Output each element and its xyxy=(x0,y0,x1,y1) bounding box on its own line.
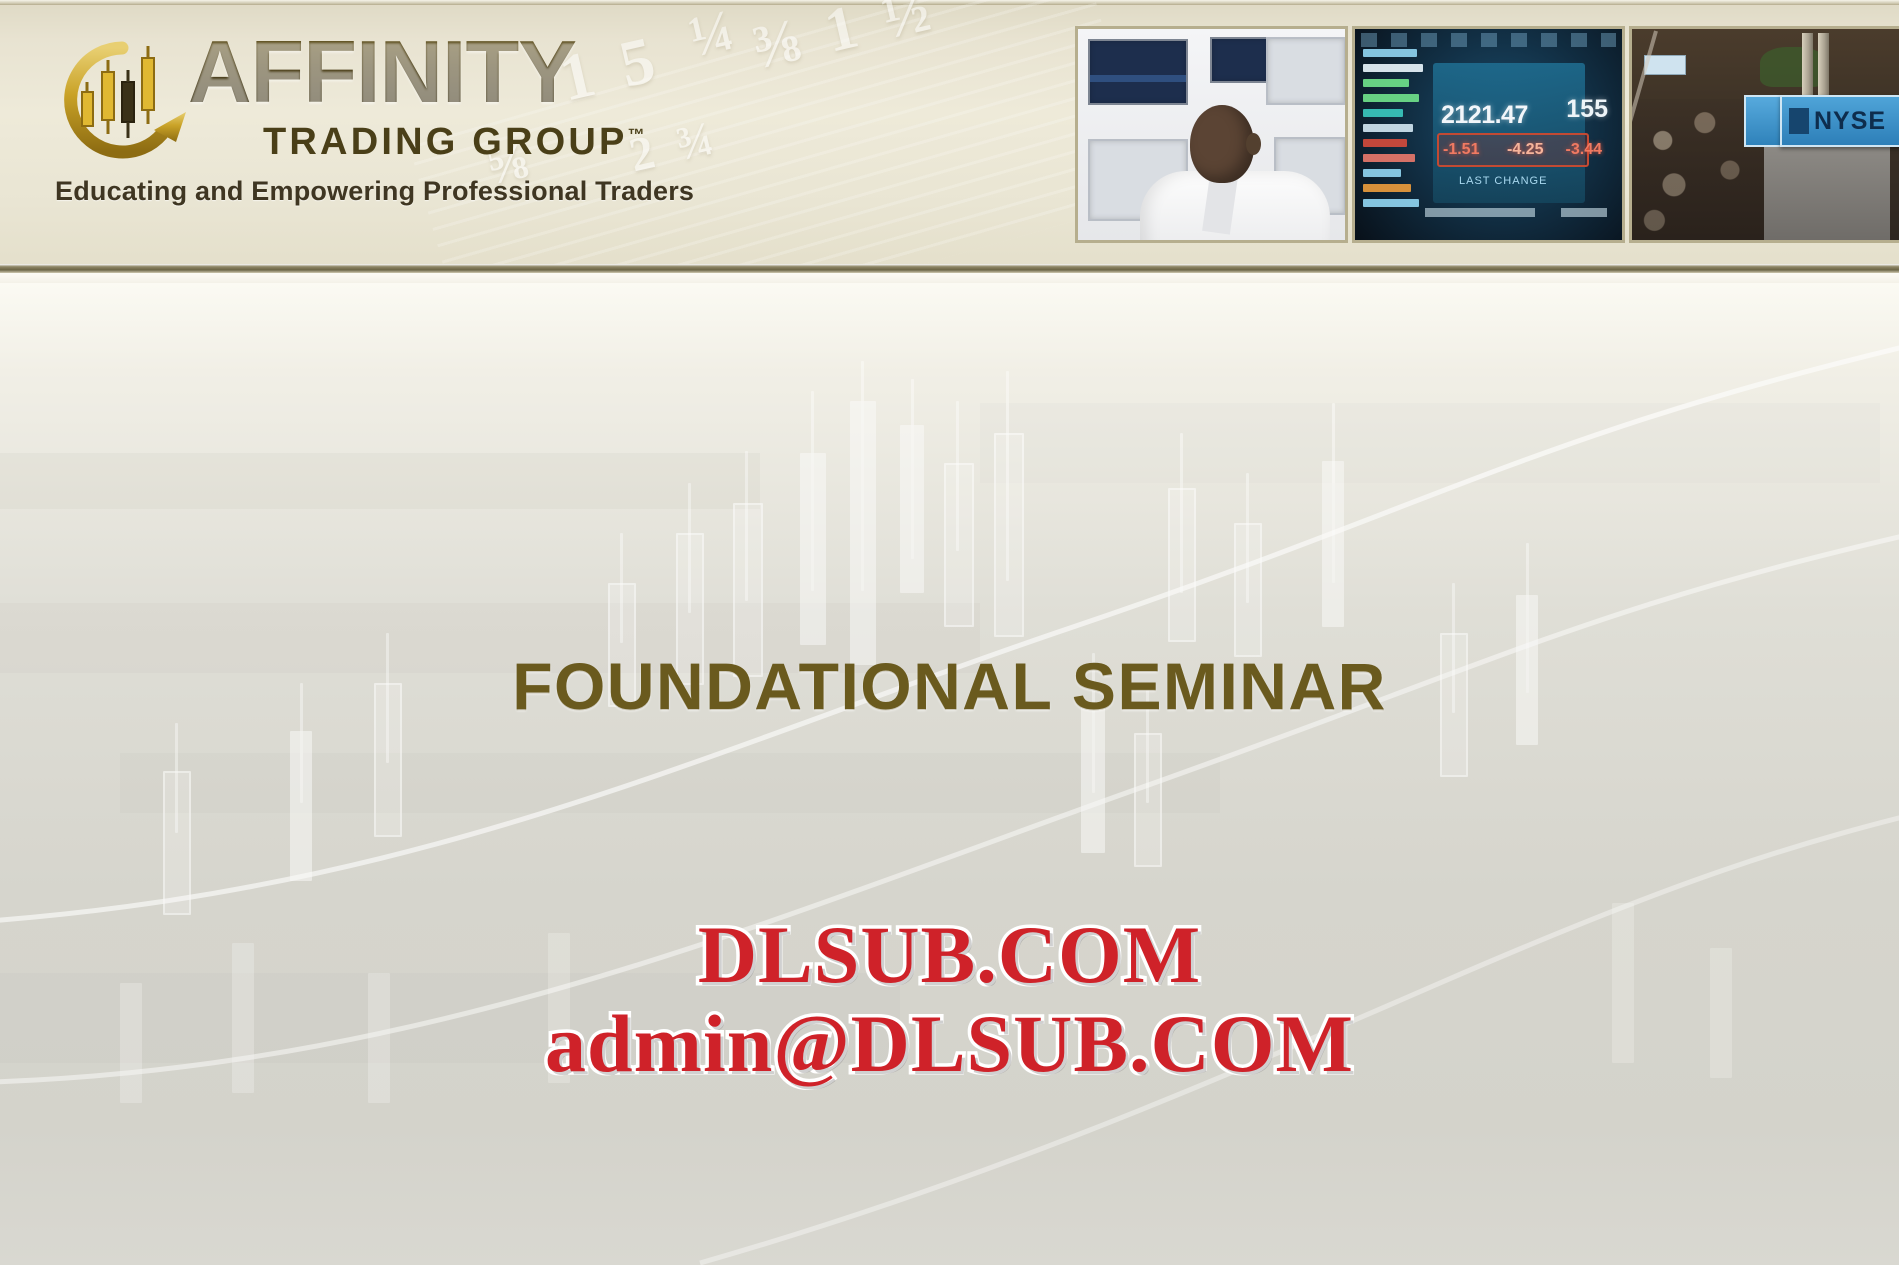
monitor-top-mid xyxy=(1210,37,1270,83)
watermark-line-1: DLSUB.COM xyxy=(0,911,1899,1000)
logo-wordmark: AFFINITY xyxy=(188,28,576,116)
monitor-top-left xyxy=(1088,39,1188,105)
logo-subname: TRADING GROUP™ xyxy=(263,121,645,164)
board-index-value: 2121.47 xyxy=(1441,101,1528,130)
market-data-board-photo: 2121.47 155 -1.51 -4.25 -3.44 LAST CHANG… xyxy=(1352,26,1625,243)
nyse-sign-text: NYSE xyxy=(1814,107,1886,136)
board-change-2: -3.44 xyxy=(1566,141,1602,159)
board-change-0: -1.51 xyxy=(1443,141,1479,159)
nyse-sign: NYSE xyxy=(1780,95,1899,147)
board-bottom-row xyxy=(1365,208,1612,230)
monitor-band xyxy=(1090,75,1186,82)
site-watermark: DLSUB.COM admin@DLSUB.COM xyxy=(0,911,1899,1088)
nyse-trading-floor-photo: NYSE xyxy=(1629,26,1899,243)
board-side-value: 155 xyxy=(1566,95,1608,124)
trader-at-monitors-photo xyxy=(1075,26,1348,243)
slide-canvas: FOUNDATIONAL SEMINAR DLSUB.COM admin@DLS… xyxy=(0,283,1899,1265)
candlestick-swoosh-logo-icon xyxy=(58,38,190,164)
trader-head xyxy=(1190,105,1254,183)
watermark-line-2: admin@DLSUB.COM xyxy=(0,1000,1899,1089)
monitor-top-right xyxy=(1266,37,1346,105)
presentation-slide: 1 5 ¼ ⅜ 1 ½ ⅝ 2 ¾ xyxy=(0,0,1899,1265)
logo-row: AFFINITY TRADING GROUP™ xyxy=(58,26,778,158)
header-top-rule xyxy=(0,0,1899,5)
trademark-symbol: ™ xyxy=(628,125,645,144)
slide-header-banner: 1 5 ¼ ⅜ 1 ½ ⅝ 2 ¾ xyxy=(0,0,1899,283)
logo-tagline: Educating and Empowering Professional Tr… xyxy=(55,176,694,207)
logo-subname-text: TRADING GROUP xyxy=(263,121,628,163)
board-top-ticker xyxy=(1361,33,1616,47)
board-left-rows xyxy=(1363,49,1425,214)
trader-ear xyxy=(1246,133,1261,155)
candlestick-watermark xyxy=(0,283,1899,1265)
page-title: FOUNDATIONAL SEMINAR xyxy=(0,648,1899,724)
board-change-1: -4.25 xyxy=(1507,141,1543,159)
nyse-booth xyxy=(1764,141,1890,241)
header-bottom-rule xyxy=(0,264,1899,273)
nyse-logo-icon xyxy=(1789,108,1809,134)
board-sub-label: LAST CHANGE xyxy=(1459,175,1547,187)
brand-logo[interactable]: AFFINITY TRADING GROUP™ Educating and Em… xyxy=(58,26,778,158)
header-bottom-fade xyxy=(0,273,1899,283)
floor-greenery xyxy=(1760,47,1826,87)
header-photo-strip: 2121.47 155 -1.51 -4.25 -3.44 LAST CHANG… xyxy=(1075,26,1899,243)
